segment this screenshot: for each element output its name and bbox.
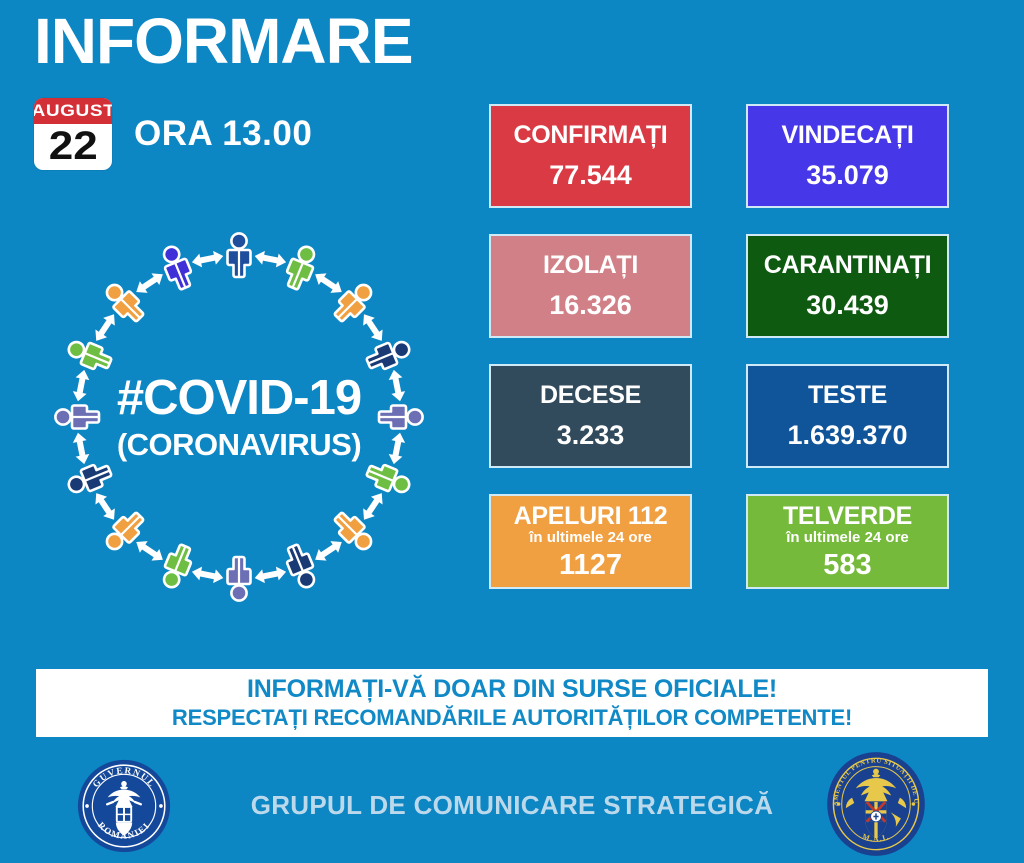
calendar-icon: AUGUST 22 (34, 98, 112, 170)
banner-line-2: RESPECTAȚI RECOMANDĂRILE AUTORITĂȚILOR C… (172, 706, 852, 730)
guvernul-romaniei-seal-icon: GUVERNUL ROMÂNIEI (76, 757, 172, 855)
person-figure (281, 242, 322, 294)
distance-arrow-icon (387, 369, 407, 403)
person-figure (157, 242, 198, 294)
stat-card-apeluri-112[interactable]: APELURI 112 în ultimele 24 ore 1127 (489, 494, 692, 589)
page-title: INFORMARE (34, 8, 413, 75)
distance-arrow-icon (387, 431, 407, 465)
stat-label: TELVERDE (783, 503, 912, 529)
stats-row: DECESE 3.233 TESTE 1.639.370 (489, 364, 989, 468)
stats-grid: CONFIRMAȚI 77.544 VINDECAȚI 35.079 IZOLA… (489, 104, 989, 615)
stat-label: DECESE (540, 382, 641, 408)
person-figure (157, 541, 198, 593)
person-figure (378, 405, 424, 430)
stat-label: CONFIRMAȚI (514, 122, 668, 148)
stat-card-izolati[interactable]: IZOLAȚI 16.326 (489, 234, 692, 338)
distance-arrow-icon (132, 268, 166, 297)
distance-arrow-icon (90, 310, 119, 344)
person-figure (363, 459, 415, 500)
report-hour: ORA 13.00 (134, 114, 312, 154)
stats-row: APELURI 112 în ultimele 24 ore 1127 TELV… (489, 494, 989, 589)
infographic-root: INFORMARE AUGUST 22 ORA 13.00 (0, 0, 1024, 860)
stat-label: IZOLAȚI (543, 252, 638, 278)
distance-arrow-icon (311, 536, 345, 565)
distance-arrow-icon (191, 249, 225, 269)
person-figure (281, 541, 322, 593)
stat-card-decese[interactable]: DECESE 3.233 (489, 364, 692, 468)
distance-arrow-icon (358, 489, 387, 523)
stat-value: 30.439 (806, 291, 889, 319)
person-figure (363, 335, 415, 376)
person-figure (54, 405, 100, 430)
distance-arrow-icon (358, 310, 387, 344)
stat-value: 1.639.370 (787, 421, 907, 449)
stat-card-vindecati[interactable]: VINDECAȚI 35.079 (746, 104, 949, 208)
distance-arrow-icon (71, 369, 91, 403)
stat-sublabel: în ultimele 24 ore (529, 530, 652, 546)
distance-arrow-icon (311, 268, 345, 297)
stat-label: APELURI 112 (514, 503, 668, 529)
stat-sublabel: în ultimele 24 ore (786, 530, 909, 546)
stat-card-carantinati[interactable]: CARANTINAȚI 30.439 (746, 234, 949, 338)
stat-value: 35.079 (806, 161, 889, 189)
stat-card-telverde[interactable]: TELVERDE în ultimele 24 ore 583 (746, 494, 949, 589)
stat-value: 1127 (559, 550, 622, 580)
date-bar: AUGUST 22 ORA 13.00 (34, 98, 312, 170)
stat-card-confirmati[interactable]: CONFIRMAȚI 77.544 (489, 104, 692, 208)
person-figure (64, 459, 116, 500)
stat-card-teste[interactable]: TESTE 1.639.370 (746, 364, 949, 468)
distance-arrow-icon (191, 565, 225, 585)
stat-value: 16.326 (549, 291, 632, 319)
calendar-month: AUGUST (34, 98, 112, 124)
distance-arrow-icon (253, 249, 287, 269)
distance-arrow-icon (71, 431, 91, 465)
stat-label: TESTE (808, 382, 887, 408)
calendar-day: 22 (34, 124, 112, 170)
distance-arrow-icon (132, 536, 166, 565)
stats-row: CONFIRMAȚI 77.544 VINDECAȚI 35.079 (489, 104, 989, 208)
official-sources-banner: INFORMAȚI-VĂ DOAR DIN SURSE OFICIALE! RE… (36, 669, 988, 737)
stat-value: 583 (823, 550, 871, 580)
social-distancing-circle-icon: #COVID-19 (CORONAVIRUS) (34, 212, 444, 622)
departamentul-pentru-situatii-de-urgenta-seal-icon: DEPARTAMENTUL PENTRU SITUAȚII DE URGENȚĂ… (824, 750, 928, 858)
distance-arrow-icon (90, 489, 119, 523)
stat-label: CARANTINAȚI (764, 252, 932, 278)
stat-value: 77.544 (549, 161, 632, 189)
person-figure (64, 335, 116, 376)
stats-row: IZOLAȚI 16.326 CARANTINAȚI 30.439 (489, 234, 989, 338)
person-figure (227, 232, 252, 278)
banner-line-1: INFORMAȚI-VĂ DOAR DIN SURSE OFICIALE! (247, 676, 777, 704)
stat-label: VINDECAȚI (781, 122, 913, 148)
distance-arrow-icon (253, 565, 287, 585)
stat-value: 3.233 (557, 421, 625, 449)
person-figure (227, 556, 252, 602)
